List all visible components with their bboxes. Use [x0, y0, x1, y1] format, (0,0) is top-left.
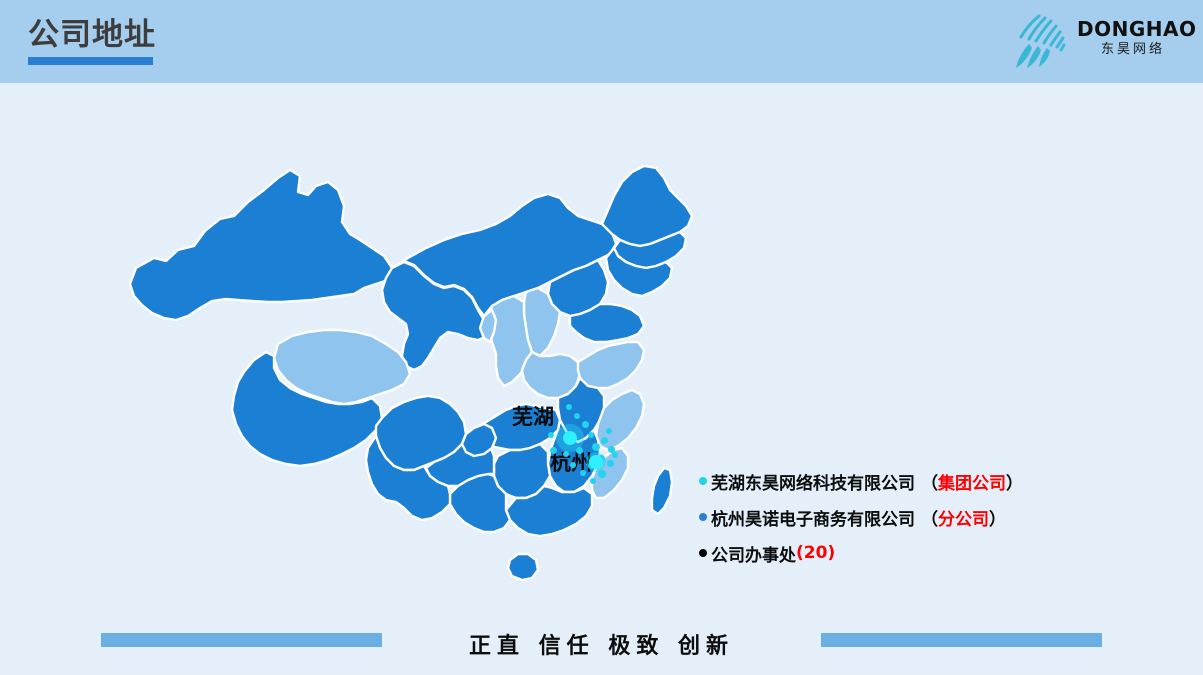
map-office-dot[interactable] — [576, 447, 583, 454]
logo-text: DONGHAO 东昊网络 — [1077, 18, 1189, 59]
company-logo: DONGHAO 东昊网络 — [1009, 8, 1189, 74]
logo-chinese-name: 东昊网络 — [1077, 41, 1189, 59]
map-office-dot[interactable] — [563, 451, 569, 457]
map-marker-branch[interactable] — [586, 452, 606, 472]
legend-label-headquarters: 芜湖东昊网络科技有限公司 — [711, 469, 915, 494]
legend: 芜湖东昊网络科技有限公司 （集团公司） 杭州昊诺电子商务有限公司 （分公司） 公… — [699, 463, 1099, 571]
map-office-dot[interactable] — [592, 443, 600, 451]
legend-item-offices[interactable]: 公司办事处 (20) — [699, 535, 1099, 571]
logo-english-name: DONGHAO — [1077, 18, 1189, 40]
map-office-dot[interactable] — [590, 478, 596, 484]
china-map-svg — [92, 98, 712, 618]
title-underline — [28, 57, 153, 65]
map-office-dot[interactable] — [582, 421, 589, 428]
legend-tag-branch: （分公司） — [921, 505, 1006, 530]
legend-bullet-branch — [699, 513, 707, 521]
map-office-dot[interactable] — [607, 460, 614, 467]
page-title-block: 公司地址 — [28, 16, 156, 65]
footer-bar-right — [821, 633, 1102, 647]
map-office-dot[interactable] — [570, 462, 576, 468]
legend-label-offices: 公司办事处 — [711, 541, 796, 566]
map-office-dot[interactable] — [574, 413, 580, 419]
region-xinjiang — [130, 170, 392, 320]
china-map-container — [92, 98, 712, 618]
region-jiangsu — [578, 342, 644, 388]
map-office-dot[interactable] — [566, 404, 572, 410]
legend-tag-offices: (20) — [796, 543, 835, 563]
legend-bullet-offices — [699, 549, 707, 557]
map-office-dot[interactable] — [612, 452, 618, 458]
legend-item-headquarters[interactable]: 芜湖东昊网络科技有限公司 （集团公司） — [699, 463, 1099, 499]
page-title: 公司地址 — [28, 16, 156, 54]
region-hainan — [508, 554, 538, 580]
map-office-dot[interactable] — [588, 432, 594, 438]
legend-bullet-headquarters — [699, 477, 707, 485]
map-office-dot[interactable] — [548, 432, 554, 438]
map-office-dot[interactable] — [606, 428, 612, 434]
map-office-dot[interactable] — [580, 470, 586, 476]
legend-tag-headquarters: （集团公司） — [921, 469, 1023, 494]
map-office-dot[interactable] — [550, 447, 557, 454]
map-office-dot[interactable] — [601, 437, 608, 444]
legend-label-branch: 杭州昊诺电子商务有限公司 — [711, 505, 915, 530]
city-label-wuhu: 芜湖 — [512, 401, 554, 431]
region-taiwan — [652, 468, 672, 514]
donghao-wing-mark-icon — [1009, 10, 1075, 72]
legend-item-branch[interactable]: 杭州昊诺电子商务有限公司 （分公司） — [699, 499, 1099, 535]
